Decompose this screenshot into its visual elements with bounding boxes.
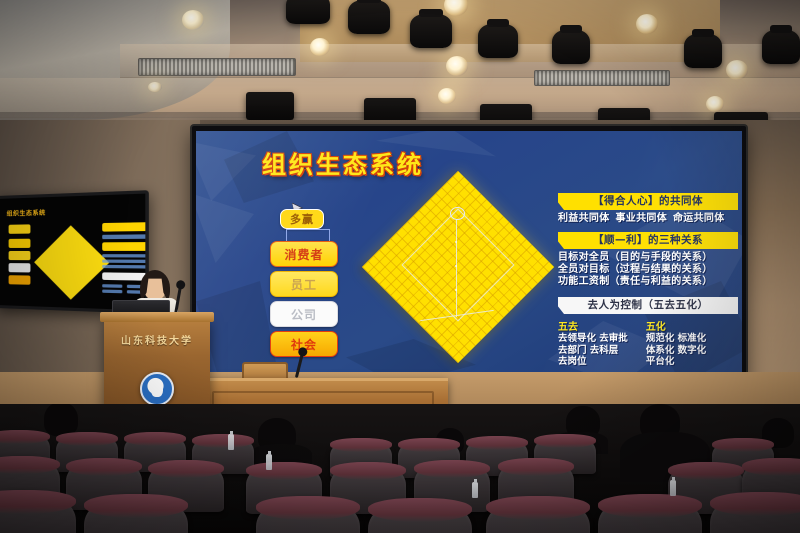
column-wuqu-head: 五去 <box>558 318 628 333</box>
monitor-text-line <box>102 265 148 269</box>
seat <box>710 492 800 533</box>
hvac-vent-left <box>138 58 296 76</box>
stage-spotlight <box>348 0 390 34</box>
monitor-chip <box>9 275 31 285</box>
chip-gongsi[interactable]: 公司 <box>270 301 338 327</box>
monitor-chip <box>9 224 31 233</box>
hvac-vent-right <box>534 70 670 86</box>
stage-spotlight <box>410 14 452 48</box>
banner-1-lines: 利益共同体 事业共同体 命运共同体 <box>558 213 738 225</box>
monitor-banner <box>102 242 148 251</box>
banner-heading-3: 去人为控制（五去五化） <box>558 297 738 314</box>
audience-head <box>44 404 78 436</box>
diamond-node <box>455 265 457 267</box>
projection-screen-frame: 组织生态系统 多赢 消费者 员工 公司 社会 <box>192 126 746 388</box>
stage-spotlight <box>552 30 590 64</box>
banner-2-line-3: 功能工资制（责任与利益的关系） <box>558 276 738 288</box>
water-bottle <box>266 454 272 470</box>
chip-connector <box>286 229 330 241</box>
projection-screen: 组织生态系统 多赢 消费者 员工 公司 社会 <box>196 131 742 383</box>
stage-spotlight <box>286 0 330 24</box>
ceiling-light <box>148 82 162 92</box>
university-emblem-icon <box>140 372 174 406</box>
column-wuqu-item: 去岗位 <box>558 356 628 368</box>
column-wuhua-item: 体系化 数字化 <box>646 345 706 357</box>
diamond-node <box>455 289 457 291</box>
monitor-text-line <box>102 290 122 294</box>
stage-spotlight <box>762 30 800 64</box>
monitor-text-line <box>102 254 148 257</box>
chip-duoying[interactable]: 多赢 <box>280 209 324 229</box>
seat <box>84 494 188 533</box>
column-wuqu-item: 去部门 去科层 <box>558 345 628 357</box>
diamond-axis-line <box>456 219 457 317</box>
monitor-text-line <box>102 234 148 239</box>
slide-title: 组织生态系统 <box>262 153 424 177</box>
monitor-chip <box>9 239 31 248</box>
banner-2-line-2: 全员对目标（过程与结果的关系） <box>558 264 738 276</box>
column-wuhua-head: 五化 <box>646 318 706 333</box>
stage-spotlight <box>684 34 722 68</box>
seat <box>368 498 472 533</box>
seat <box>0 490 76 533</box>
center-diamond-graphic <box>376 185 540 349</box>
banner-3-columns: 五去 去领导化 去审批 去部门 去科层 去岗位 五化 规范化 标准化 体系化 数… <box>558 318 738 368</box>
water-bottle <box>228 434 234 450</box>
banner-1-line-3: 命运共同体 <box>673 213 725 225</box>
monitor-chip <box>9 251 31 260</box>
water-bottle <box>472 482 478 498</box>
podium-university-name: 山东科技大学 <box>104 332 210 347</box>
stage-light-box <box>246 92 294 120</box>
monitor-screen: 组织生态系统 <box>0 194 145 311</box>
banner-2-lines: 目标对全员（目的与手段的关系） 全员对目标（过程与结果的关系） 功能工资制（责任… <box>558 252 738 288</box>
monitor-chip <box>9 263 31 272</box>
monitor-text-line <box>102 260 148 264</box>
column-wuqu-item: 去领导化 去审批 <box>558 333 628 345</box>
side-monitor: 组织生态系统 <box>0 190 149 314</box>
info-panel: 【得合人心】的共同体 利益共同体 事业共同体 命运共同体 【顺—利】的三种关系 … <box>558 193 738 368</box>
ceiling-light <box>310 38 330 56</box>
monitor-slide-title: 组织生态系统 <box>7 208 46 218</box>
seat <box>256 496 360 533</box>
chip-yuangong[interactable]: 员工 <box>270 271 338 297</box>
ceiling-light <box>636 14 658 34</box>
column-wuhua-item: 规范化 标准化 <box>646 333 706 345</box>
column-wuqu: 五去 去领导化 去审批 去部门 去科层 去岗位 <box>558 318 628 368</box>
diamond-top-circle-icon <box>450 207 465 220</box>
monitor-text-line <box>102 284 122 288</box>
ceiling-light <box>438 88 456 104</box>
water-bottle <box>670 480 676 496</box>
column-wuhua-item: 平台化 <box>646 356 706 368</box>
seat <box>598 494 702 533</box>
seat <box>486 496 590 533</box>
audience-area <box>0 404 800 533</box>
column-wuhua: 五化 规范化 标准化 体系化 数字化 平台化 <box>646 318 706 368</box>
ceiling-light <box>726 60 748 80</box>
ceiling-light <box>706 96 724 112</box>
bg-facet <box>196 193 254 263</box>
banner-2-line-1: 目标对全员（目的与手段的关系） <box>558 252 738 264</box>
ceiling-light <box>446 56 468 76</box>
banner-1-line-2: 事业共同体 <box>616 213 668 225</box>
stage-spotlight <box>478 24 518 58</box>
podium-top-surface <box>100 312 214 322</box>
monitor-diamond <box>34 225 109 299</box>
monitor-banner <box>102 222 148 231</box>
chip-xiaofeizhe[interactable]: 消费者 <box>270 241 338 267</box>
banner-heading-1: 【得合人心】的共同体 <box>558 193 738 210</box>
diamond-node <box>455 241 457 243</box>
banner-heading-2: 【顺—利】的三种关系 <box>558 232 738 249</box>
chip-column: 多赢 消费者 员工 公司 社会 <box>270 209 338 361</box>
ceiling-light <box>182 10 204 30</box>
lecture-hall-photo: 组织生态系统 <box>0 0 800 533</box>
banner-1-line-1: 利益共同体 <box>558 213 610 225</box>
